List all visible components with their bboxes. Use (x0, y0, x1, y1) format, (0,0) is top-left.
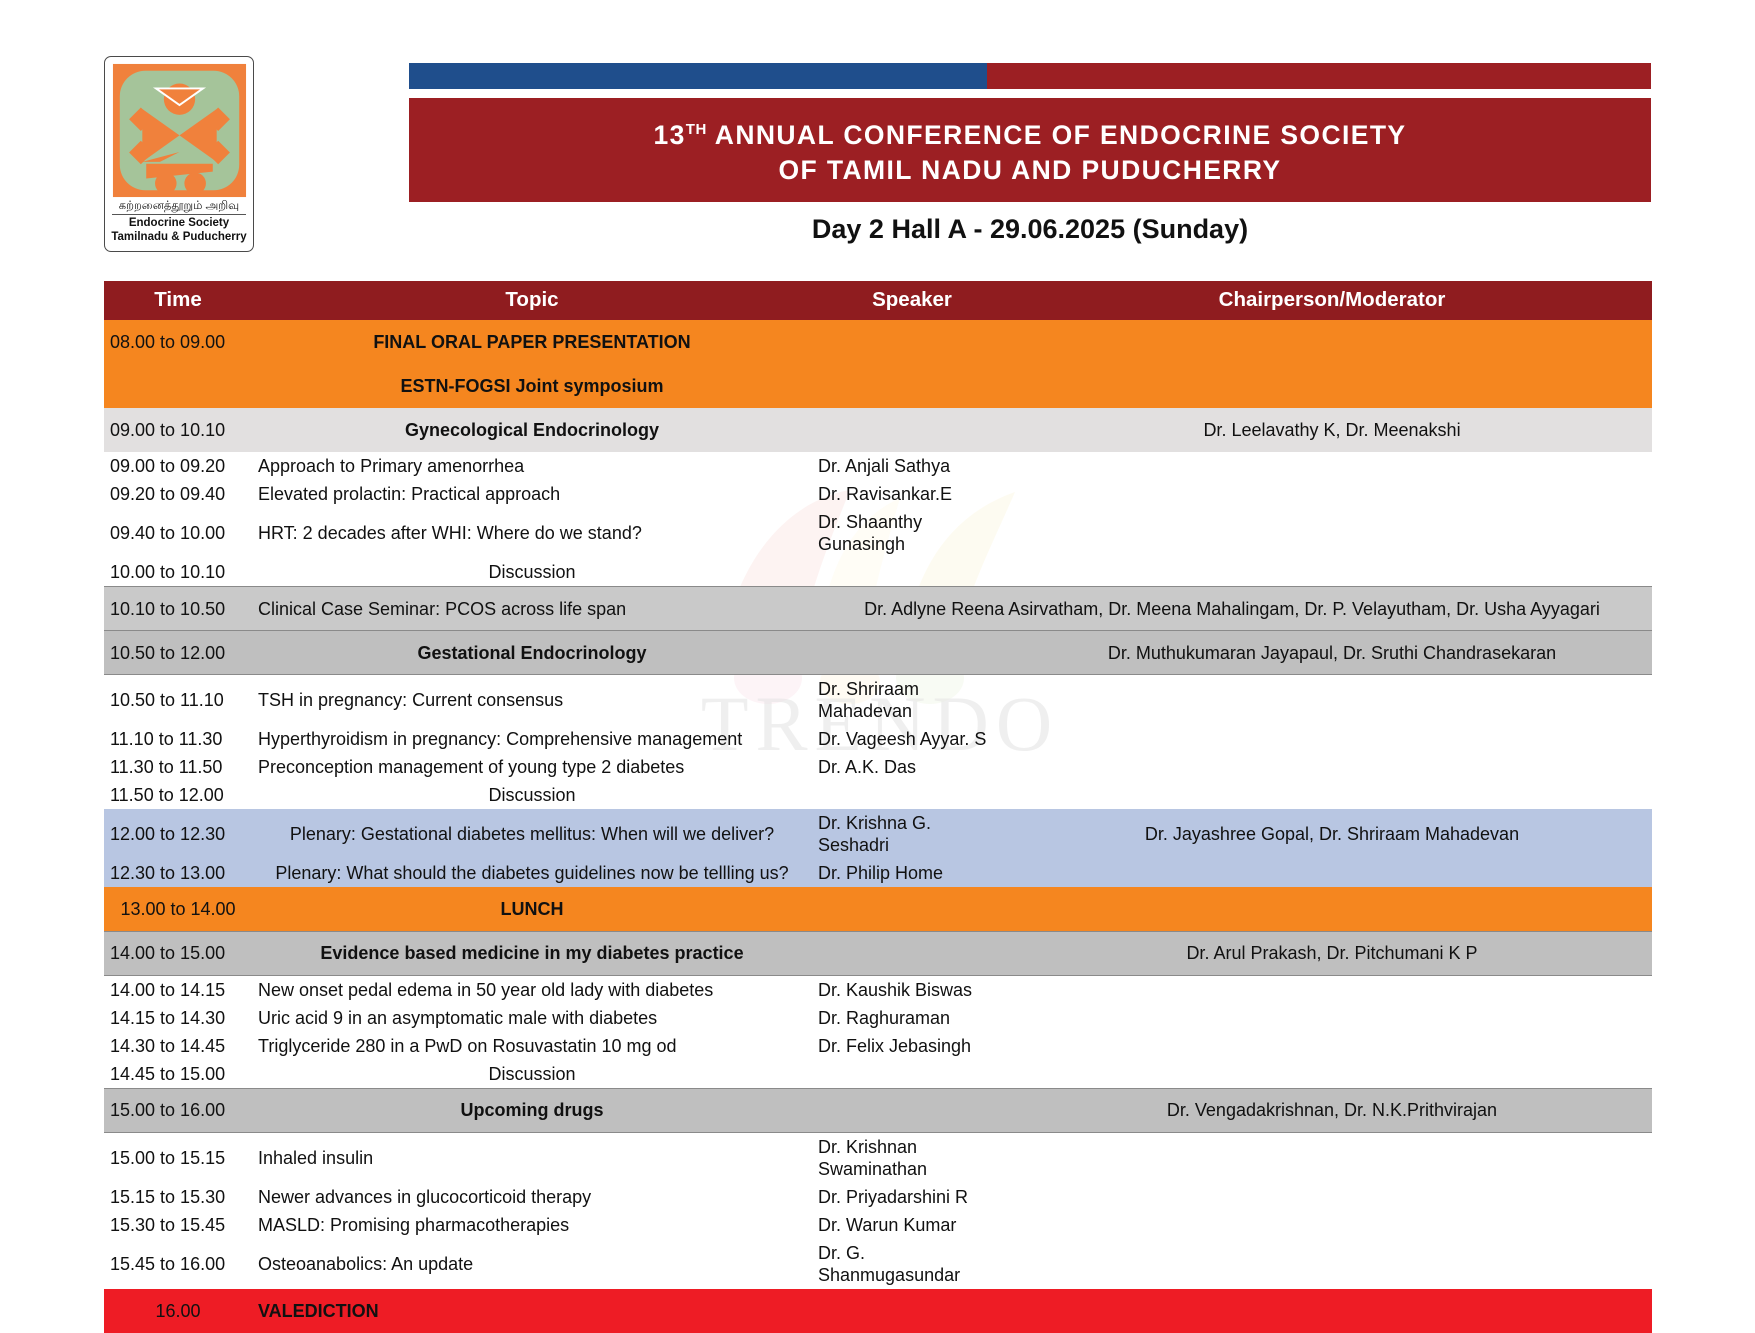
cell-topic: Plenary: What should the diabetes guidel… (252, 859, 812, 887)
cell-topic: HRT: 2 decades after WHI: Where do we st… (252, 508, 812, 558)
schedule-row: 13.00 to 14.00LUNCH (104, 887, 1652, 931)
column-header-speaker: Speaker (812, 281, 1012, 320)
society-logo: கற்றனைத்தூறும் அறிவு Endocrine Society T… (104, 56, 254, 252)
cell-chairperson (1012, 725, 1652, 753)
cell-speaker: Dr. Felix Jebasingh (812, 1032, 1012, 1060)
cell-speaker: Dr. Krishnan Swaminathan (812, 1132, 1012, 1183)
cell-topic: Gestational Endocrinology (252, 631, 812, 675)
cell-speaker (812, 1060, 1012, 1089)
cell-topic: MASLD: Promising pharmacotherapies (252, 1211, 812, 1239)
cell-topic: Upcoming drugs (252, 1088, 812, 1132)
cell-topic: LUNCH (252, 887, 812, 931)
schedule-row: 15.00 to 16.00Upcoming drugsDr. Vengadak… (104, 1088, 1652, 1132)
cell-topic: Gynecological Endocrinology (252, 408, 812, 452)
cell-chairperson (1012, 887, 1652, 931)
cell-time: 13.00 to 14.00 (104, 887, 252, 931)
conference-title-line-1: 13TH ANNUAL CONFERENCE OF ENDOCRINE SOCI… (654, 112, 1407, 153)
schedule-row: ESTN-FOGSI Joint symposium (104, 364, 1652, 408)
cell-topic: Discussion (252, 781, 812, 809)
cell-time: 16.00 (104, 1289, 252, 1333)
schedule-row: 09.40 to 10.00HRT: 2 decades after WHI: … (104, 508, 1652, 558)
schedule-row: 12.30 to 13.00Plenary: What should the d… (104, 859, 1652, 887)
cell-chairperson (1012, 364, 1652, 408)
cell-chairperson: Dr. Vengadakrishnan, Dr. N.K.Prithviraja… (1012, 1088, 1652, 1132)
schedule-row: 15.45 to 16.00Osteoanabolics: An updateD… (104, 1239, 1652, 1289)
cell-topic: Elevated prolactin: Practical approach (252, 480, 812, 508)
cell-chairperson (1012, 1211, 1652, 1239)
cell-chairperson (1012, 781, 1652, 809)
cell-topic: VALEDICTION (252, 1289, 812, 1333)
endocrine-society-emblem-icon (111, 62, 248, 199)
cell-time: 15.30 to 15.45 (104, 1211, 252, 1239)
cell-topic: Newer advances in glucocorticoid therapy (252, 1183, 812, 1211)
schedule-row: 15.00 to 15.15Inhaled insulinDr. Krishna… (104, 1132, 1652, 1183)
cell-chairperson (1012, 1060, 1652, 1089)
cell-speaker: Dr. Ravisankar.E (812, 480, 1012, 508)
cell-chairperson: Dr. Arul Prakash, Dr. Pitchumani K P (1012, 931, 1652, 975)
cell-topic: New onset pedal edema in 50 year old lad… (252, 975, 812, 1004)
cell-time: 08.00 to 09.00 (104, 320, 252, 364)
cell-speaker: Dr. Kaushik Biswas (812, 975, 1012, 1004)
schedule-row: 14.00 to 15.00Evidence based medicine in… (104, 931, 1652, 975)
cell-speaker (812, 558, 1012, 587)
day-hall-date-line: Day 2 Hall A - 29.06.2025 (Sunday) (409, 214, 1651, 245)
conference-title-line-2: OF TAMIL NADU AND PUDUCHERRY (779, 153, 1282, 188)
cell-time: 09.00 to 09.20 (104, 452, 252, 480)
cell-time: 10.00 to 10.10 (104, 558, 252, 587)
cell-chairperson (1012, 508, 1652, 558)
cell-time: 12.00 to 12.30 (104, 809, 252, 859)
cell-speaker (812, 1289, 1012, 1333)
page-header: கற்றனைத்தூறும் அறிவு Endocrine Society T… (0, 0, 1755, 250)
cell-speaker: Dr. Warun Kumar (812, 1211, 1012, 1239)
schedule-row: 10.10 to 10.50Clinical Case Seminar: PCO… (104, 587, 1652, 631)
cell-time: 10.10 to 10.50 (104, 587, 252, 631)
cell-speaker: Dr. A.K. Das (812, 753, 1012, 781)
cell-time: 15.15 to 15.30 (104, 1183, 252, 1211)
cell-speaker: Dr. Raghuraman (812, 1004, 1012, 1032)
column-header-topic: Topic (252, 281, 812, 320)
schedule-row: 14.15 to 14.30Uric acid 9 in an asymptom… (104, 1004, 1652, 1032)
cell-chairperson: Dr. Jayashree Gopal, Dr. Shriraam Mahade… (1012, 809, 1652, 859)
cell-topic: ESTN-FOGSI Joint symposium (252, 364, 812, 408)
cell-topic: Clinical Case Seminar: PCOS across life … (252, 587, 812, 631)
schedule-row: 09.20 to 09.40Elevated prolactin: Practi… (104, 480, 1652, 508)
schedule-row: 15.30 to 15.45MASLD: Promising pharmacot… (104, 1211, 1652, 1239)
title-line-1-rest: ANNUAL CONFERENCE OF ENDOCRINE SOCIETY (707, 120, 1406, 150)
cell-chairperson (1012, 859, 1652, 887)
schedule-row: 10.50 to 12.00Gestational EndocrinologyD… (104, 631, 1652, 675)
cell-chairperson (1012, 675, 1652, 726)
cell-time: 11.50 to 12.00 (104, 781, 252, 809)
cell-time: 10.50 to 12.00 (104, 631, 252, 675)
cell-speaker (812, 931, 1012, 975)
schedule-row: 11.10 to 11.30Hyperthyroidism in pregnan… (104, 725, 1652, 753)
cell-chairperson (1012, 452, 1652, 480)
schedule-row: 14.00 to 14.15New onset pedal edema in 5… (104, 975, 1652, 1004)
cell-time: 09.00 to 10.10 (104, 408, 252, 452)
cell-speaker: Dr. Vageesh Ayyar. S (812, 725, 1012, 753)
cell-speaker (812, 1088, 1012, 1132)
cell-speaker (812, 781, 1012, 809)
cell-time: 12.30 to 13.00 (104, 859, 252, 887)
schedule-row: 11.30 to 11.50Preconception management o… (104, 753, 1652, 781)
cell-chairperson (1012, 320, 1652, 364)
cell-speaker (812, 408, 1012, 452)
cell-chairperson (1012, 1132, 1652, 1183)
logo-divider (112, 214, 246, 215)
cell-time: 09.20 to 09.40 (104, 480, 252, 508)
cell-topic: Discussion (252, 1060, 812, 1089)
cell-speaker (812, 887, 1012, 931)
schedule-row: 10.50 to 11.10TSH in pregnancy: Current … (104, 675, 1652, 726)
cell-topic: TSH in pregnancy: Current consensus (252, 675, 812, 726)
cell-time: 14.30 to 14.45 (104, 1032, 252, 1060)
cell-topic: Uric acid 9 in an asymptomatic male with… (252, 1004, 812, 1032)
cell-chairperson (1012, 558, 1652, 587)
cell-topic: Evidence based medicine in my diabetes p… (252, 931, 812, 975)
cell-chairperson (1012, 1289, 1652, 1333)
cell-speaker: Dr. Shaanthy Gunasingh (812, 508, 1012, 558)
schedule-body: 08.00 to 09.00FINAL ORAL PAPER PRESENTAT… (104, 320, 1652, 1333)
cell-topic: Hyperthyroidism in pregnancy: Comprehens… (252, 725, 812, 753)
cell-chairperson: Dr. Muthukumaran Jayapaul, Dr. Sruthi Ch… (1012, 631, 1652, 675)
cell-chairperson (1012, 753, 1652, 781)
schedule-row: 15.15 to 15.30Newer advances in glucocor… (104, 1183, 1652, 1211)
schedule-row: 14.30 to 14.45Triglyceride 280 in a PwD … (104, 1032, 1652, 1060)
cell-topic: Inhaled insulin (252, 1132, 812, 1183)
schedule-row: 10.00 to 10.10Discussion (104, 558, 1652, 587)
schedule-table: Time Topic Speaker Chairperson/Moderator… (104, 281, 1652, 1333)
cell-topic: Preconception management of young type 2… (252, 753, 812, 781)
cell-chairperson (1012, 975, 1652, 1004)
cell-topic: Plenary: Gestational diabetes mellitus: … (252, 809, 812, 859)
title-ordinal-suffix: TH (686, 121, 707, 138)
cell-time: 15.00 to 15.15 (104, 1132, 252, 1183)
cell-topic: Discussion (252, 558, 812, 587)
cell-time: 15.45 to 16.00 (104, 1239, 252, 1289)
cell-time: 09.40 to 10.00 (104, 508, 252, 558)
cell-time: 14.00 to 15.00 (104, 931, 252, 975)
cell-chairperson (1012, 1183, 1652, 1211)
cell-time: 11.30 to 11.50 (104, 753, 252, 781)
cell-time: 14.15 to 14.30 (104, 1004, 252, 1032)
conference-title-band: 13TH ANNUAL CONFERENCE OF ENDOCRINE SOCI… (409, 98, 1651, 202)
cell-speaker: Dr. Shriraam Mahadevan (812, 675, 1012, 726)
logo-tamil-motto: கற்றனைத்தூறும் அறிவு (110, 200, 248, 213)
cell-time: 14.45 to 15.00 (104, 1060, 252, 1089)
schedule-row: 11.50 to 12.00Discussion (104, 781, 1652, 809)
cell-time (104, 364, 252, 408)
cell-speaker: Dr. G. Shanmugasundar (812, 1239, 1012, 1289)
accent-bar-blue (409, 63, 987, 89)
cell-speaker: Dr. Anjali Sathya (812, 452, 1012, 480)
logo-society-name-line1: Endocrine Society (110, 217, 248, 231)
cell-time: 15.00 to 16.00 (104, 1088, 252, 1132)
cell-topic: Osteoanabolics: An update (252, 1239, 812, 1289)
cell-chairperson (1012, 1032, 1652, 1060)
logo-society-name-line2: Tamilnadu & Puducherry (110, 231, 248, 245)
schedule-header-row: Time Topic Speaker Chairperson/Moderator (104, 281, 1652, 320)
cell-speaker: Dr. Philip Home (812, 859, 1012, 887)
cell-chairperson (1012, 1239, 1652, 1289)
cell-chairperson: Dr. Adlyne Reena Asirvatham, Dr. Meena M… (812, 587, 1652, 631)
cell-speaker: Dr. Priyadarshini R (812, 1183, 1012, 1211)
schedule-row: 09.00 to 10.10Gynecological Endocrinolog… (104, 408, 1652, 452)
cell-chairperson (1012, 1004, 1652, 1032)
cell-speaker (812, 631, 1012, 675)
cell-topic: Triglyceride 280 in a PwD on Rosuvastati… (252, 1032, 812, 1060)
cell-speaker (812, 320, 1012, 364)
column-header-chairperson: Chairperson/Moderator (1012, 281, 1652, 320)
schedule-row: 16.00VALEDICTION (104, 1289, 1652, 1333)
schedule-row: 12.00 to 12.30Plenary: Gestational diabe… (104, 809, 1652, 859)
column-header-time: Time (104, 281, 252, 320)
schedule-row: 08.00 to 09.00FINAL ORAL PAPER PRESENTAT… (104, 320, 1652, 364)
cell-chairperson: Dr. Leelavathy K, Dr. Meenakshi (1012, 408, 1652, 452)
title-ordinal-number: 13 (654, 120, 686, 150)
cell-speaker (812, 364, 1012, 408)
cell-time: 11.10 to 11.30 (104, 725, 252, 753)
cell-time: 10.50 to 11.10 (104, 675, 252, 726)
schedule-row: 14.45 to 15.00Discussion (104, 1060, 1652, 1089)
cell-topic: Approach to Primary amenorrhea (252, 452, 812, 480)
cell-chairperson (1012, 480, 1652, 508)
cell-topic: FINAL ORAL PAPER PRESENTATION (252, 320, 812, 364)
accent-bar-red (987, 63, 1651, 89)
cell-time: 14.00 to 14.15 (104, 975, 252, 1004)
cell-speaker: Dr. Krishna G. Seshadri (812, 809, 1012, 859)
schedule-row: 09.00 to 09.20Approach to Primary amenor… (104, 452, 1652, 480)
